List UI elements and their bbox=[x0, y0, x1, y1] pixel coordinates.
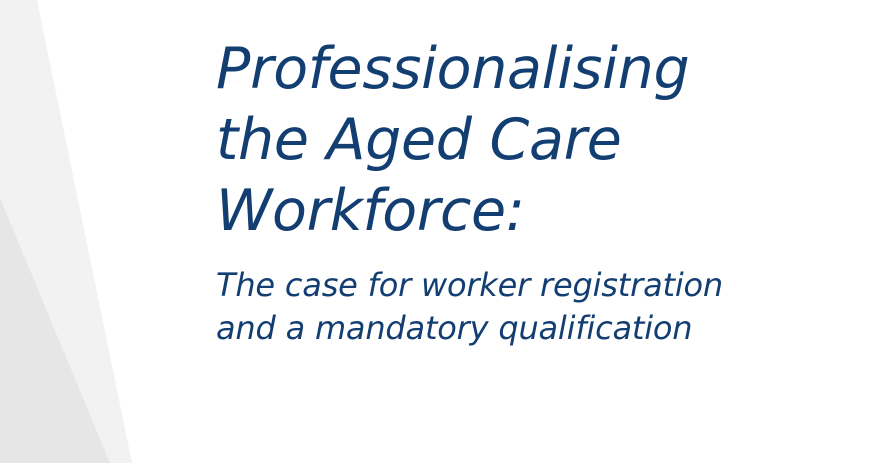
page-subtitle: The case for worker registration and a m… bbox=[216, 264, 856, 350]
page-title: Professionalising the Aged Care Workforc… bbox=[216, 34, 856, 247]
light-grey-diagonal-band bbox=[0, 0, 132, 463]
page-title-line-2: the Aged Care bbox=[216, 105, 856, 176]
medium-grey-diagonal-wedge bbox=[0, 198, 110, 463]
page-subtitle-line-2: and a mandatory qualification bbox=[216, 307, 856, 350]
title-text-block: Professionalising the Aged Care Workforc… bbox=[216, 34, 856, 350]
page-subtitle-line-1: The case for worker registration bbox=[216, 264, 856, 307]
title-slide: Professionalising the Aged Care Workforc… bbox=[0, 0, 882, 463]
page-title-line-1: Professionalising bbox=[216, 34, 856, 105]
page-title-line-3: Workforce: bbox=[216, 176, 856, 247]
